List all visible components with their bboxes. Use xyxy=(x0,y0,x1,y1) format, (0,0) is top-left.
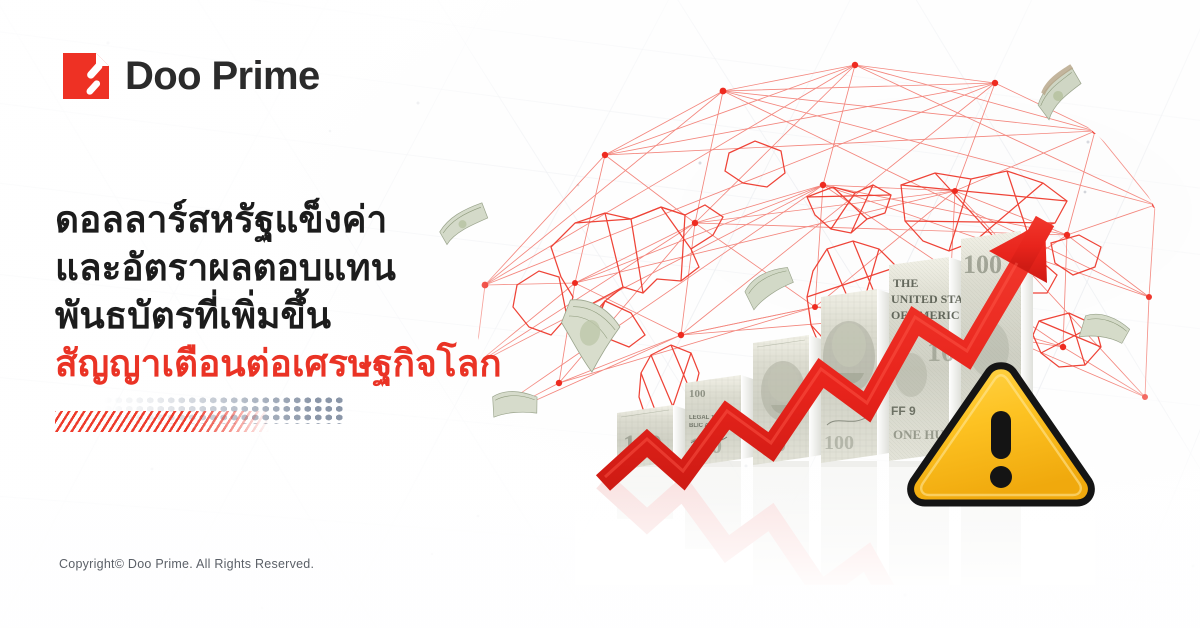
copyright-text: Copyright© Doo Prime. All Rights Reserve… xyxy=(59,557,314,571)
svg-text:UNITED STAT: UNITED STAT xyxy=(891,292,970,306)
svg-text:THE: THE xyxy=(893,276,918,290)
svg-text:FF 9: FF 9 xyxy=(891,404,916,418)
doo-prime-logo-mark-icon xyxy=(63,53,109,99)
brand-wordmark: Doo Prime xyxy=(125,56,320,96)
headline-line-1: ดอลลาร์สหรัฐแข็งค่า xyxy=(55,196,615,244)
headline-line-2: และอัตราผลตอบแทน xyxy=(55,244,615,292)
promo-banner: 100 100 LEGAL TENDER BLIC AND PRIVAT 100 xyxy=(0,0,1200,628)
headline-line-3: พันธบัตรที่เพิ่มขึ้น xyxy=(55,292,615,340)
headline-line-4-accent: สัญญาเตือนต่อเศรษฐกิจโลก xyxy=(55,340,615,388)
svg-text:100: 100 xyxy=(689,388,706,400)
svg-text:100: 100 xyxy=(824,432,854,454)
headline-block: ดอลลาร์สหรัฐแข็งค่า และอัตราผลตอบแทน พัน… xyxy=(55,196,615,388)
floating-banknote xyxy=(1074,300,1136,358)
banknote-bar-chart-scene: 100 100 LEGAL TENDER BLIC AND PRIVAT 100 xyxy=(575,215,1095,585)
decorative-hatch-and-dots xyxy=(55,396,345,432)
floating-banknote xyxy=(1018,52,1096,130)
floating-banknote xyxy=(738,258,800,312)
brand-logo[interactable]: Doo Prime xyxy=(63,53,320,99)
decor-hatch-stripes xyxy=(55,411,269,432)
